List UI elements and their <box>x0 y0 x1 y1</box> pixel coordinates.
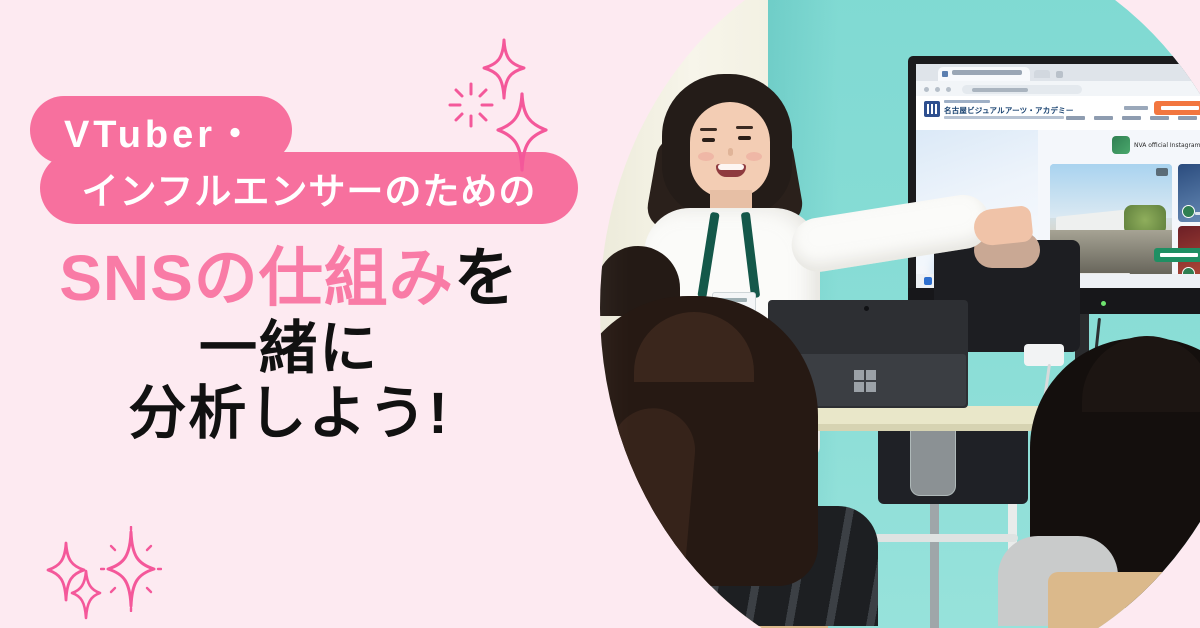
headline-block: SNSの仕組みを 一緒に 分析しよう! <box>0 246 578 445</box>
headline-line-2: 一緒に <box>0 319 578 380</box>
new-tab-icon <box>1056 71 1063 78</box>
sparkle-star-bottom-left-c <box>100 526 162 612</box>
badge-influencer-label: インフルエンサーのための <box>82 161 537 215</box>
school-logo-icon <box>924 101 940 117</box>
favicon-icon <box>942 71 948 77</box>
sparkle-star-top-small <box>480 36 528 106</box>
instagram-icon <box>1112 136 1130 154</box>
site-subtitle <box>944 116 1064 119</box>
student-ponytail <box>597 405 698 612</box>
request-button <box>1154 101 1200 115</box>
windows-logo-icon <box>854 370 876 392</box>
sparkle-burst-top <box>448 82 494 128</box>
load-more-button <box>1154 248 1200 262</box>
headline-line-3: 分析しよう! <box>0 384 578 445</box>
promo-banner: 名古屋ビジュアルアーツ・アカデミー NVA official Instagram <box>0 0 1200 628</box>
browser-tab-inactive <box>1034 70 1050 78</box>
site-tagline <box>944 100 990 103</box>
address-text <box>972 88 1028 92</box>
instagram-post <box>1178 164 1200 222</box>
usb-hub <box>1024 344 1064 366</box>
instagram-label: NVA official Instagram <box>1134 142 1200 149</box>
headline-black-text: を <box>454 242 519 314</box>
badge-influencer: インフルエンサーのための <box>40 152 578 224</box>
site-title: 名古屋ビジュアルアーツ・アカデミー <box>944 105 1074 116</box>
back-icon <box>924 87 929 92</box>
forward-icon <box>935 87 940 92</box>
site-nav <box>1066 116 1200 120</box>
tab-title <box>952 70 1022 75</box>
headline-pink-text: SNSの仕組み <box>59 242 454 314</box>
headline-line-1: SNSの仕組みを <box>0 246 578 311</box>
reload-icon <box>946 87 951 92</box>
account-link <box>1124 106 1148 110</box>
presenter-hand <box>972 205 1033 247</box>
sparkle-star-bottom-left-a <box>44 540 88 606</box>
classroom-photo: 名古屋ビジュアルアーツ・アカデミー NVA official Instagram <box>578 0 1200 628</box>
wooden-chair-back <box>1048 572 1200 628</box>
sparkle-star-bottom-left-b <box>68 568 104 622</box>
badge-vtuber-label: VTuber・ <box>64 103 258 158</box>
presenter-smile <box>716 164 746 177</box>
webcam-icon <box>864 306 869 311</box>
